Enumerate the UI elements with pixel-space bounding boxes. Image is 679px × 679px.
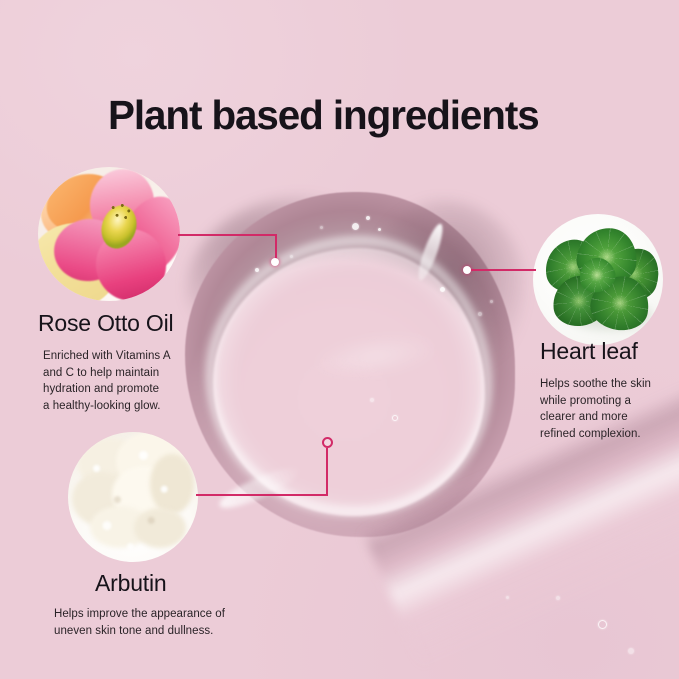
description-line: Helps improve the appearance of <box>54 606 225 623</box>
gel-bubble <box>320 226 323 229</box>
connector-line-rose-horizontal <box>178 234 277 236</box>
gel-bubble <box>378 228 381 231</box>
description-line: clearer and more <box>540 409 651 426</box>
gel-bubble <box>290 255 293 258</box>
gel-bubble <box>598 620 607 629</box>
gel-bubble <box>370 398 374 402</box>
description-line: Helps soothe the skin <box>540 376 651 393</box>
powder-grain-texture <box>68 432 198 562</box>
ingredient-description-rose-otto-oil: Enriched with Vitamins A and C to help m… <box>43 348 171 414</box>
ingredient-name-heart-leaf: Heart leaf <box>540 338 638 365</box>
description-line: a healthy-looking glow. <box>43 398 171 415</box>
ingredient-image-heart-leaf[interactable] <box>533 214 663 345</box>
connector-endpoint-rose <box>271 258 279 266</box>
page-title: Plant based ingredients <box>108 92 539 139</box>
gel-bubble <box>440 287 445 292</box>
connector-line-arbutin-vertical <box>326 448 328 496</box>
gel-bubble <box>478 312 482 316</box>
connector-line-arbutin-horizontal <box>196 494 328 496</box>
description-line: refined complexion. <box>540 426 651 443</box>
ingredient-name-rose-otto-oil: Rose Otto Oil <box>38 310 173 337</box>
ingredient-description-heart-leaf: Helps soothe the skin while promoting a … <box>540 376 651 442</box>
gel-bubble <box>392 415 398 421</box>
ingredient-image-arbutin[interactable] <box>68 432 198 562</box>
gel-bubble <box>556 596 560 600</box>
description-line: while promoting a <box>540 393 651 410</box>
description-line: hydration and promote <box>43 381 171 398</box>
description-line: Enriched with Vitamins A <box>43 348 171 365</box>
description-line: uneven skin tone and dullness. <box>54 623 225 640</box>
gel-bubble <box>352 223 359 230</box>
connector-endpoint-arbutin <box>322 437 333 448</box>
gel-bubble <box>255 268 259 272</box>
gel-bubble <box>506 596 509 599</box>
ingredient-image-rose-otto-oil[interactable] <box>38 167 180 301</box>
gel-bubble <box>628 648 634 654</box>
description-line: and C to help maintain <box>43 365 171 382</box>
gel-bubble <box>490 300 493 303</box>
ingredient-description-arbutin: Helps improve the appearance of uneven s… <box>54 606 225 639</box>
connector-endpoint-heart-leaf <box>463 266 471 274</box>
infographic-stage: Plant based ingredients Rose Otto Oil En… <box>0 0 679 679</box>
ingredient-name-arbutin: Arbutin <box>95 570 166 597</box>
rose-stamen-pollen <box>108 201 134 223</box>
connector-line-heart-leaf <box>468 269 536 271</box>
gel-bubble <box>366 216 370 220</box>
